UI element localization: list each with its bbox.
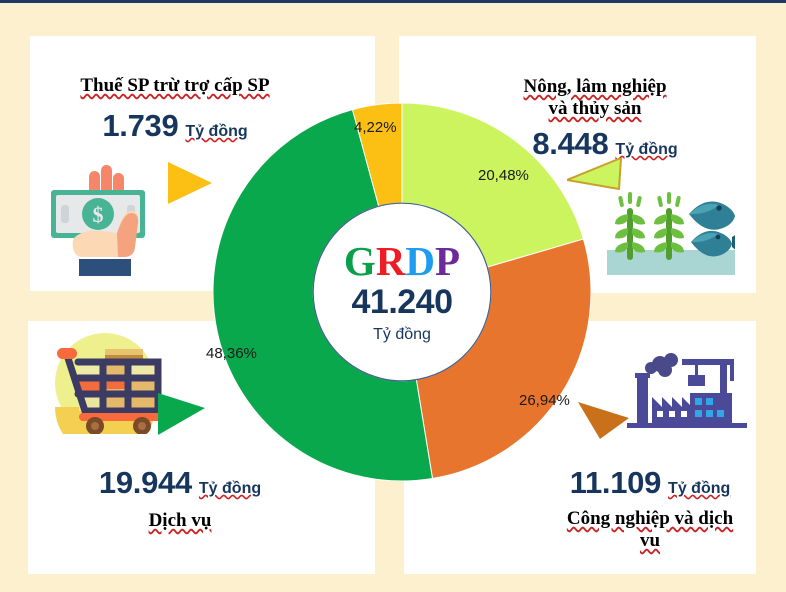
svg-text:$: $ (93, 202, 104, 227)
money-hand-icon: $ (37, 153, 159, 286)
shopping-cart-icon (45, 331, 170, 434)
card-service-unit: Tỷ đồng (199, 480, 261, 498)
infographic-canvas: Thuế SP trừ trợ cấp SP 1.739 Tỷ đồng $ N… (0, 0, 786, 592)
card-service-value: 19.944 (99, 465, 192, 501)
card-tax-title: Thuế SP trừ trợ cấp SP (30, 75, 320, 97)
grdp-donut-chart: GRDP 41.240 Tỷ đồng (213, 103, 591, 481)
card-service-title: Dịch vụ (40, 510, 320, 532)
factory-crane-icon (627, 351, 747, 434)
slice-label-industry: 26,94% (519, 392, 570, 409)
donut-hole (313, 203, 491, 381)
slice-label-service: 48,36% (206, 345, 257, 362)
arrow-right-green-icon (158, 393, 205, 435)
card-agriculture-unit: Tỷ đồng (615, 141, 677, 159)
card-industry-unit: Tỷ đồng (668, 480, 730, 498)
arrow-right-yellow-icon (168, 162, 212, 204)
card-tax-value: 1.739 (102, 108, 178, 144)
wheat-fish-icon (607, 190, 735, 275)
slice-label-agriculture: 20,48% (478, 167, 529, 184)
card-industry-title: Công nghiệp và dịch vu (530, 508, 770, 552)
slice-label-tax: 4,22% (354, 119, 397, 136)
